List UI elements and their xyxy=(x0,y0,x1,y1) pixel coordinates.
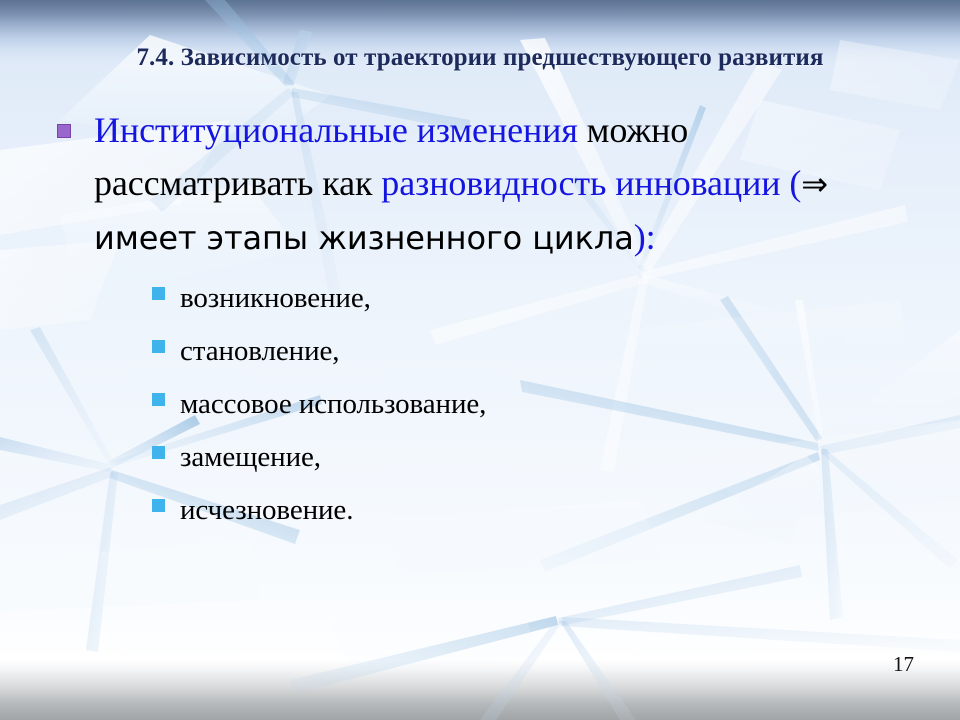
sub-bullet-label: замещение, xyxy=(180,441,321,473)
sub-bullet-label: исчезновение. xyxy=(180,494,353,526)
square-bullet-blue-icon xyxy=(152,499,165,512)
square-bullet-blue-icon xyxy=(152,340,165,353)
sub-bullet-item-4: замещение, xyxy=(152,431,914,484)
sub-bullet-label: возникновение, xyxy=(180,282,371,314)
sub-bullet-label: становление, xyxy=(180,335,339,367)
square-bullet-blue-icon xyxy=(152,287,165,300)
square-bullet-purple-icon xyxy=(57,124,71,138)
sub-bullet-list: возникновение, становление, массовое исп… xyxy=(54,272,914,537)
main-bullet-segment-1: Институциональные изменения xyxy=(94,110,578,150)
main-bullet-item: Институциональные изменения можно рассма… xyxy=(54,104,914,265)
square-bullet-blue-icon xyxy=(152,393,165,406)
main-bullet-segment-3: разновидность инновации ( xyxy=(381,163,801,203)
slide-page-number: 17 xyxy=(893,652,914,677)
sub-bullet-label: массовое использование, xyxy=(180,388,486,420)
sub-bullet-item-2: становление, xyxy=(152,325,914,378)
slide-title: 7.4. Зависимость от траектории предшеств… xyxy=(136,44,823,72)
sub-bullet-item-5: исчезновение. xyxy=(152,484,914,537)
slide-title-bar: 7.4. Зависимость от траектории предшеств… xyxy=(0,44,960,72)
sub-bullet-item-3: массовое использование, xyxy=(152,378,914,431)
main-bullet-segment-5: ): xyxy=(634,217,656,257)
sub-bullet-item-1: возникновение, xyxy=(152,272,914,325)
slide-body: Институциональные изменения можно рассма… xyxy=(54,104,914,537)
presentation-slide: 7.4. Зависимость от траектории предшеств… xyxy=(0,0,960,720)
square-bullet-blue-icon xyxy=(152,446,165,459)
main-bullet-text: Институциональные изменения можно рассма… xyxy=(94,104,914,265)
